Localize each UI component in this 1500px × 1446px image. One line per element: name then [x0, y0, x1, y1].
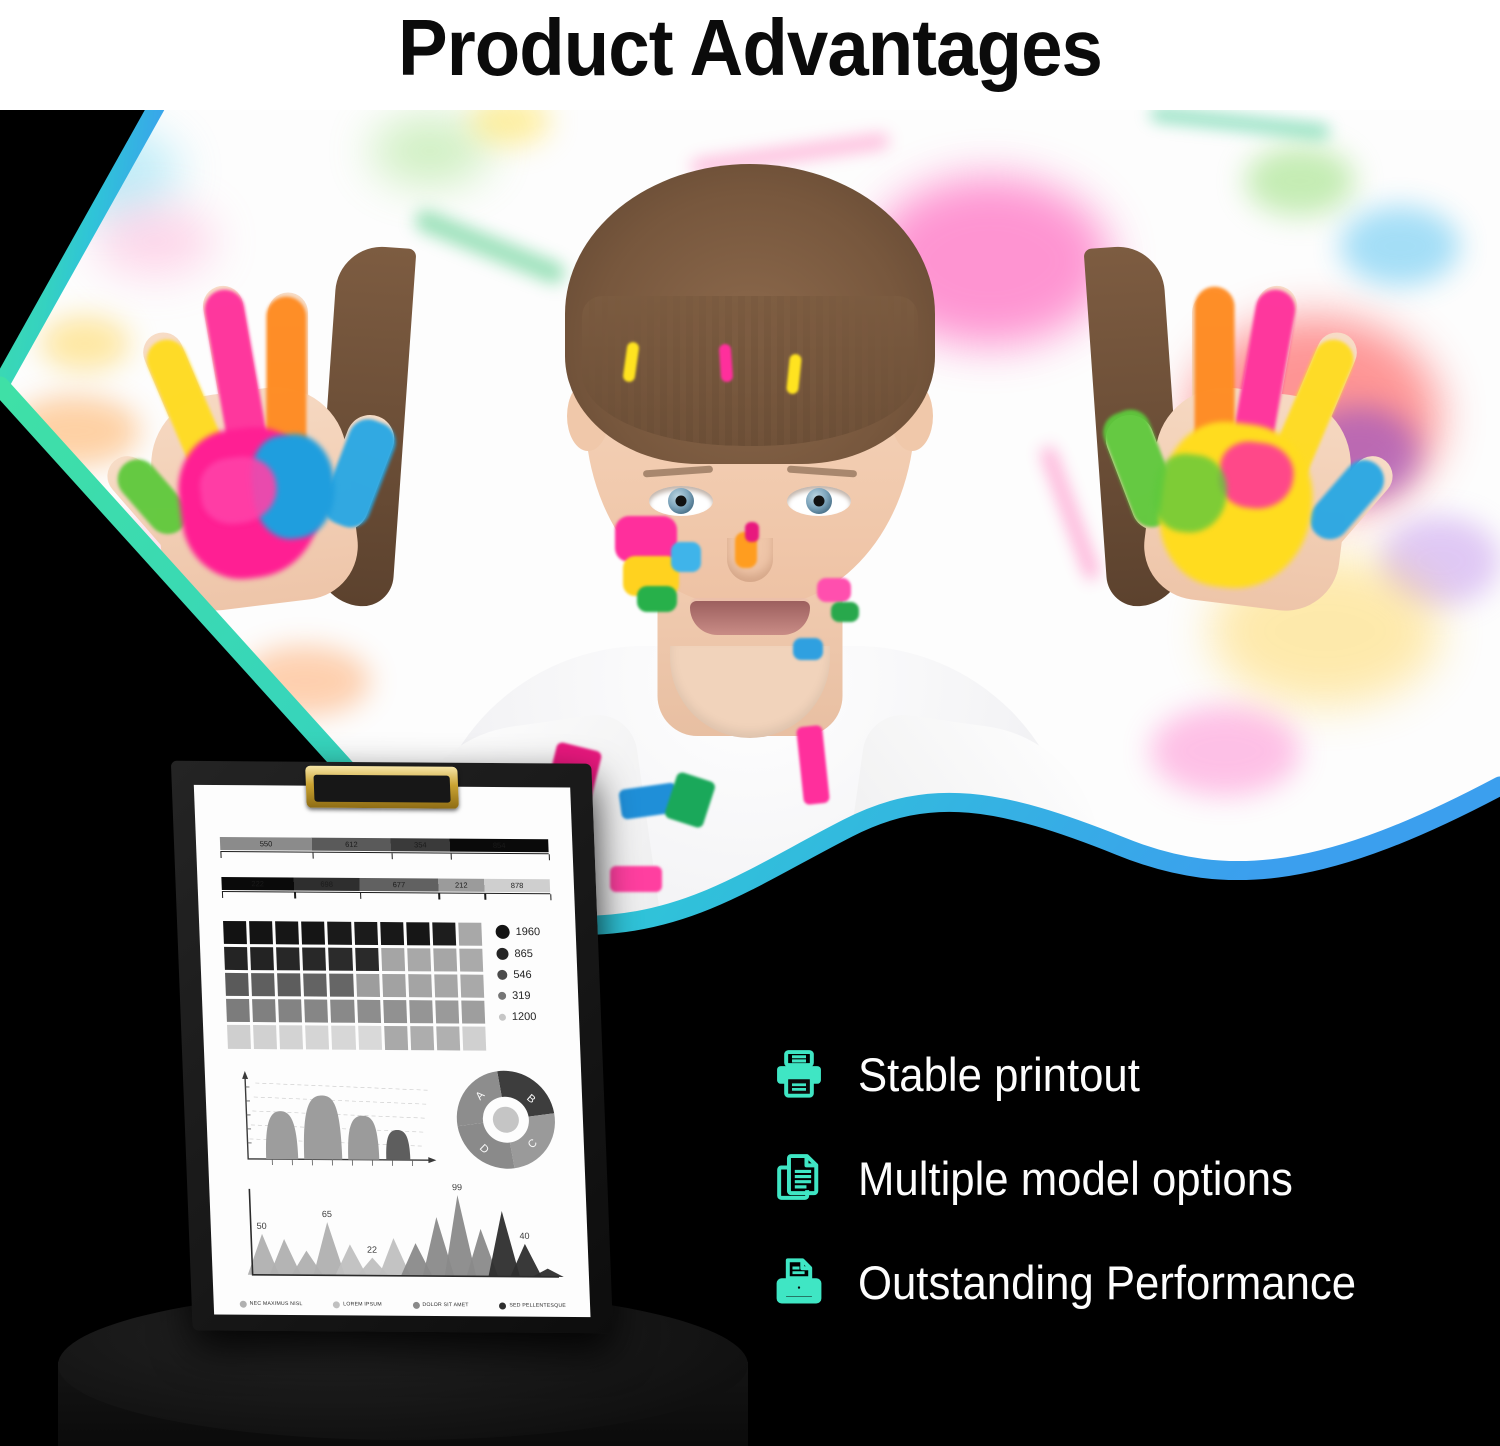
- scale-tick: [485, 894, 487, 900]
- legend-value: 865: [514, 948, 533, 960]
- grayscale-cell: [410, 1027, 434, 1050]
- grayscale-cell: [224, 947, 248, 970]
- chart-legend-item: SED PELLENTESQUE: [499, 1302, 566, 1309]
- grayscale-cell: [251, 973, 275, 996]
- legend-swatch: [499, 1302, 506, 1309]
- scale-tick: [222, 892, 224, 898]
- grayscale-cell: [227, 1025, 251, 1048]
- chart-legend-item: DOLOR SIT AMET: [412, 1301, 469, 1308]
- svg-text:50: 50: [256, 1220, 266, 1230]
- legend-swatch: [240, 1300, 247, 1307]
- svg-text:65: 65: [322, 1209, 332, 1219]
- clipboard-clip-inner: [313, 775, 450, 803]
- grayscale-cell: [252, 999, 276, 1022]
- legend-value: 319: [512, 990, 531, 1002]
- donut-chart: A B C D: [449, 1064, 563, 1175]
- grayscale-cell: [226, 999, 250, 1022]
- grayscale-cell: [329, 948, 353, 971]
- feature-item-multiple-model-options: Multiple model options: [770, 1134, 1470, 1222]
- grayscale-cell: [276, 947, 300, 970]
- child-hand-right: [1107, 222, 1404, 649]
- grayscale-cell: [433, 948, 457, 971]
- child-brow-left: [643, 466, 713, 478]
- child-mouth: [690, 601, 810, 635]
- clipboard-clip: [305, 766, 459, 809]
- child-eye-left: [649, 486, 713, 516]
- scale-label: 878: [511, 881, 524, 890]
- gradient-bar-2-scale: 222698677212878: [222, 891, 551, 909]
- documents-stack-icon: [770, 1149, 828, 1207]
- dot-legend-row: 546: [497, 969, 542, 981]
- grayscale-cell: [460, 975, 484, 998]
- grayscale-cell: [380, 922, 404, 945]
- grayscale-cell: [432, 922, 456, 945]
- grayscale-grid: [223, 921, 486, 1050]
- legend-label: DOLOR SIT AMET: [422, 1302, 469, 1308]
- printer-test-page: 550612354854 222698677212878 19608655463…: [194, 785, 591, 1317]
- gradient-bar-2: [221, 877, 550, 892]
- svg-text:22: 22: [367, 1244, 377, 1254]
- grayscale-cell: [355, 948, 379, 971]
- grayscale-cell: [249, 921, 273, 944]
- printer-icon: [770, 1045, 828, 1103]
- feature-label: Multiple model options: [858, 1155, 1293, 1202]
- grayscale-cell: [459, 949, 483, 972]
- scale-tick: [360, 893, 362, 899]
- dot-legend-row: 319: [498, 990, 543, 1002]
- dot-legend-row: 1200: [499, 1011, 544, 1023]
- chart-legend-item: LOREM IPSUM: [333, 1301, 382, 1308]
- svg-text:40: 40: [519, 1230, 529, 1240]
- scale-label: 354: [414, 840, 427, 849]
- child-eye-right: [787, 486, 851, 516]
- scale-tick: [220, 852, 222, 858]
- feature-label: Stable printout: [858, 1051, 1140, 1098]
- dot-legend-row: 1960: [495, 925, 540, 939]
- child-brow-right: [787, 466, 857, 478]
- grayscale-cell: [253, 1025, 277, 1048]
- legend-value: 1960: [515, 926, 540, 938]
- grayscale-cell: [223, 921, 247, 944]
- grayscale-cell: [384, 1026, 408, 1049]
- scale-label: 222: [251, 879, 264, 888]
- dot-size-legend: 19608655463191200: [495, 923, 544, 1032]
- scale-label: 550: [260, 839, 273, 848]
- gradient-bar-1-scale: 550612354854: [220, 851, 549, 869]
- grayscale-cell: [436, 1027, 460, 1050]
- grayscale-cell: [275, 921, 299, 944]
- legend-dot: [499, 1013, 506, 1020]
- scale-tick: [550, 894, 552, 900]
- grayscale-cell: [382, 974, 406, 997]
- scale-label: 212: [455, 881, 468, 890]
- svg-text:99: 99: [452, 1182, 462, 1191]
- grayscale-cell: [302, 948, 326, 971]
- scale-label: 677: [392, 880, 405, 889]
- scale-tick: [391, 853, 393, 859]
- legend-label: SED PELLENTESQUE: [509, 1303, 566, 1309]
- scale-label: 612: [345, 840, 358, 849]
- grayscale-cell: [330, 974, 354, 997]
- grayscale-cell: [434, 975, 458, 998]
- grayscale-cell: [354, 922, 378, 945]
- scale-label: 698: [320, 880, 333, 889]
- legend-swatch: [333, 1301, 340, 1308]
- grayscale-cell: [406, 922, 430, 945]
- grayscale-cell: [462, 1027, 486, 1050]
- grayscale-cell: [358, 1026, 382, 1049]
- feature-label: Outstanding Performance: [858, 1259, 1356, 1306]
- grayscale-cell: [278, 1000, 302, 1023]
- child-shoulder-right: [834, 710, 1116, 956]
- grayscale-cell: [407, 948, 431, 971]
- legend-dot: [497, 970, 507, 980]
- grayscale-cell: [381, 948, 405, 971]
- grayscale-cell: [383, 1000, 407, 1023]
- legend-label: NEC MAXIMUS NISL: [250, 1301, 303, 1307]
- legend-dot: [498, 992, 506, 1000]
- grayscale-cell: [328, 922, 352, 945]
- peak-area-chart: [228, 1062, 442, 1171]
- mountain-area-chart: 5065229940: [235, 1182, 566, 1300]
- product-advantages-banner: Product Advantages: [0, 0, 1500, 1446]
- scale-label: 854: [493, 841, 506, 850]
- grayscale-cell: [408, 974, 432, 997]
- scale-tick: [549, 854, 551, 860]
- scale-tick: [294, 892, 296, 898]
- feature-item-stable-printout: Stable printout: [770, 1030, 1470, 1118]
- grayscale-cell: [435, 1001, 459, 1024]
- mountain-chart-legend: NEC MAXIMUS NISLLOREM IPSUMDOLOR SIT AME…: [240, 1300, 567, 1309]
- page-title: Product Advantages: [53, 2, 1448, 94]
- grayscale-cell: [277, 973, 301, 996]
- feature-list: Stable printout Multiple model options: [770, 1030, 1470, 1342]
- dot-legend-row: 865: [496, 948, 541, 960]
- chart-legend-item: NEC MAXIMUS NISL: [240, 1300, 303, 1307]
- clipboard: 550612354854 222698677212878 19608655463…: [171, 761, 613, 1334]
- grayscale-cell: [250, 947, 274, 970]
- legend-dot: [496, 948, 508, 960]
- scale-tick: [312, 853, 314, 859]
- scale-tick: [450, 854, 452, 860]
- legend-swatch: [412, 1301, 419, 1308]
- grayscale-cell: [305, 1026, 329, 1049]
- legend-value: 1200: [512, 1011, 537, 1023]
- grayscale-cell: [357, 1000, 381, 1023]
- grayscale-cell: [304, 1000, 328, 1023]
- legend-dot: [495, 925, 510, 939]
- grayscale-cell: [332, 1026, 356, 1049]
- grayscale-cell: [458, 923, 482, 946]
- printer-page-icon: [770, 1253, 828, 1311]
- legend-value: 546: [513, 969, 532, 981]
- scale-tick: [439, 893, 441, 899]
- child-hand-left: [97, 222, 394, 649]
- grayscale-cell: [225, 973, 249, 996]
- grayscale-cell: [356, 974, 380, 997]
- grayscale-cell: [409, 1000, 433, 1023]
- grayscale-cell: [303, 974, 327, 997]
- grayscale-cell: [301, 921, 325, 944]
- grayscale-cell: [331, 1000, 355, 1023]
- grayscale-cell: [461, 1001, 485, 1024]
- grayscale-cell: [279, 1026, 303, 1049]
- feature-item-outstanding-performance: Outstanding Performance: [770, 1238, 1470, 1326]
- legend-label: LOREM IPSUM: [343, 1301, 382, 1307]
